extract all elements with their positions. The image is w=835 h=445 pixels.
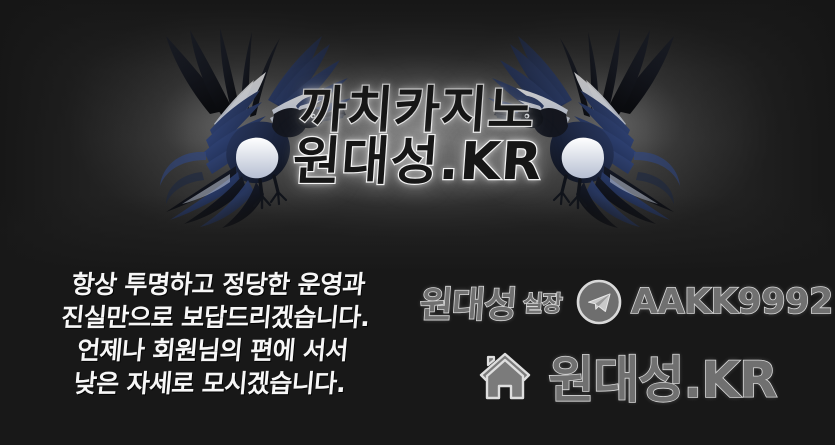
slogan-line-1: 항상 투명하고 정당한 운영과 [21,268,416,301]
slogan-line-3: 언제나 회원님의 편에 서서 [15,334,410,367]
telegram-icon[interactable] [575,278,623,326]
contact-block: 원대성 실장 AAKK9992 원대성.KR [418,266,835,416]
slogan-block: 항상 투명하고 정당한 운영과 진실만으로 보답드리겠습니다. 언제나 회원님의… [12,268,416,400]
magpie-right-illustration [480,14,730,229]
site-domain[interactable]: 원대성.KR [548,340,776,412]
manager-name: 원대성 [418,276,518,328]
casino-promo-banner: 까치카지노 원대성.KR 항상 투명하고 정당한 운영과 진실만으로 보답드리겠… [0,0,835,445]
website-row[interactable]: 원대성.KR [418,336,835,416]
home-icon[interactable] [476,348,534,404]
slogan-line-2: 진실만으로 보답드리겠습니다. [18,301,413,334]
telegram-contact-row[interactable]: 원대성 실장 AAKK9992 [418,266,835,338]
manager-role: 실장 [521,286,562,318]
slogan-line-4: 낮은 자세로 모시겠습니다. [12,367,407,400]
telegram-handle[interactable]: AAKK9992 [631,282,833,322]
magpie-left-illustration [110,14,360,229]
